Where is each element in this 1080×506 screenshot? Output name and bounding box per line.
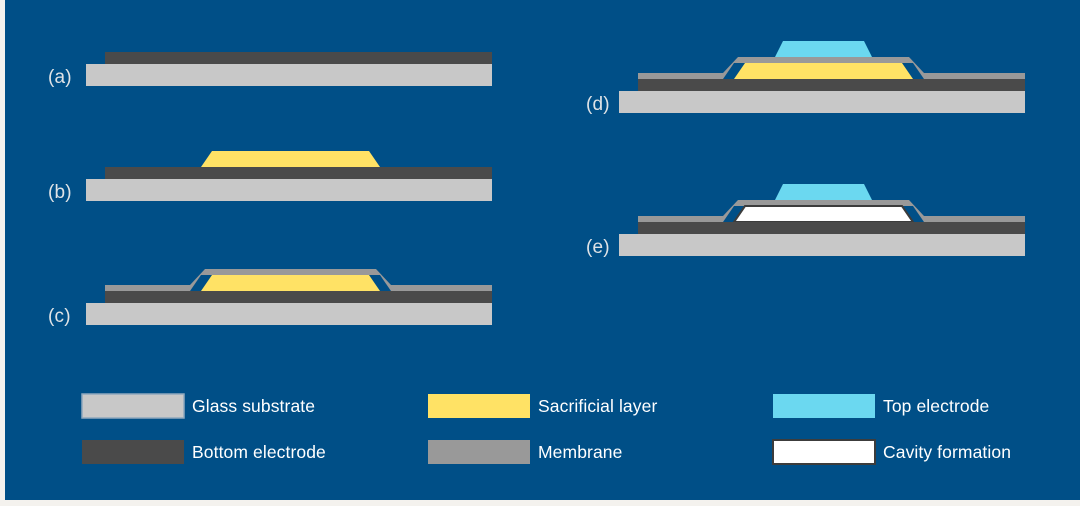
legend-item-membrane: Membrane: [428, 440, 622, 464]
panel-d-label: (d): [586, 94, 610, 115]
panel-a-bottom-electrode: [105, 52, 492, 64]
panel-b-bottom-electrode: [105, 167, 492, 179]
legend-swatch-membrane: [428, 440, 530, 464]
figure-root: (a) (b) (c) (d): [0, 0, 1080, 506]
legend-item-glass-substrate: Glass substrate: [82, 394, 315, 418]
panel-e-cavity: [734, 206, 913, 222]
legend-item-top-electrode: Top electrode: [773, 394, 989, 418]
legend-item-bottom-electrode: Bottom electrode: [82, 440, 326, 464]
panel-b-label: (b): [48, 182, 72, 203]
panel-c-glass-substrate: [86, 303, 492, 325]
panel-e-top-electrode: [775, 184, 872, 200]
panel-d-sacrificial-layer: [734, 63, 913, 79]
panel-e: (e): [586, 184, 1025, 258]
panel-d-bottom-electrode: [638, 79, 1025, 91]
legend-label-bottom-electrode: Bottom electrode: [192, 442, 326, 462]
panel-b-sacrificial-layer: [201, 151, 380, 167]
panel-a-label: (a): [48, 67, 72, 88]
legend-label-glass-substrate: Glass substrate: [192, 396, 315, 416]
panel-d: (d): [586, 41, 1025, 115]
panel-b-glass-substrate: [86, 179, 492, 201]
panel-c-label: (c): [48, 306, 71, 327]
panel-c: (c): [48, 269, 492, 327]
legend-swatch-sacrificial-layer: [428, 394, 530, 418]
legend: Glass substrate Bottom electrode Sacrifi…: [82, 394, 1011, 464]
legend-label-membrane: Membrane: [538, 442, 622, 462]
panel-a: (a): [48, 52, 492, 88]
process-flow-diagram: (a) (b) (c) (d): [0, 0, 1080, 506]
legend-swatch-bottom-electrode: [82, 440, 184, 464]
panel-d-top-electrode: [775, 41, 872, 57]
panel-d-glass-substrate: [619, 91, 1025, 113]
panel-e-label: (e): [586, 237, 610, 258]
panel-c-sacrificial-layer: [201, 275, 380, 291]
legend-swatch-glass-substrate: [82, 394, 184, 418]
legend-label-top-electrode: Top electrode: [883, 396, 989, 416]
legend-label-cavity-formation: Cavity formation: [883, 442, 1011, 462]
panel-a-glass-substrate: [86, 64, 492, 86]
legend-item-cavity-formation: Cavity formation: [773, 440, 1011, 464]
panel-e-glass-substrate: [619, 234, 1025, 256]
panel-b: (b): [48, 151, 492, 203]
legend-swatch-top-electrode: [773, 394, 875, 418]
panel-e-bottom-electrode: [638, 222, 1025, 234]
legend-swatch-cavity-formation: [773, 440, 875, 464]
legend-item-sacrificial-layer: Sacrificial layer: [428, 394, 657, 418]
panel-c-bottom-electrode: [105, 291, 492, 303]
legend-label-sacrificial-layer: Sacrificial layer: [538, 396, 657, 416]
